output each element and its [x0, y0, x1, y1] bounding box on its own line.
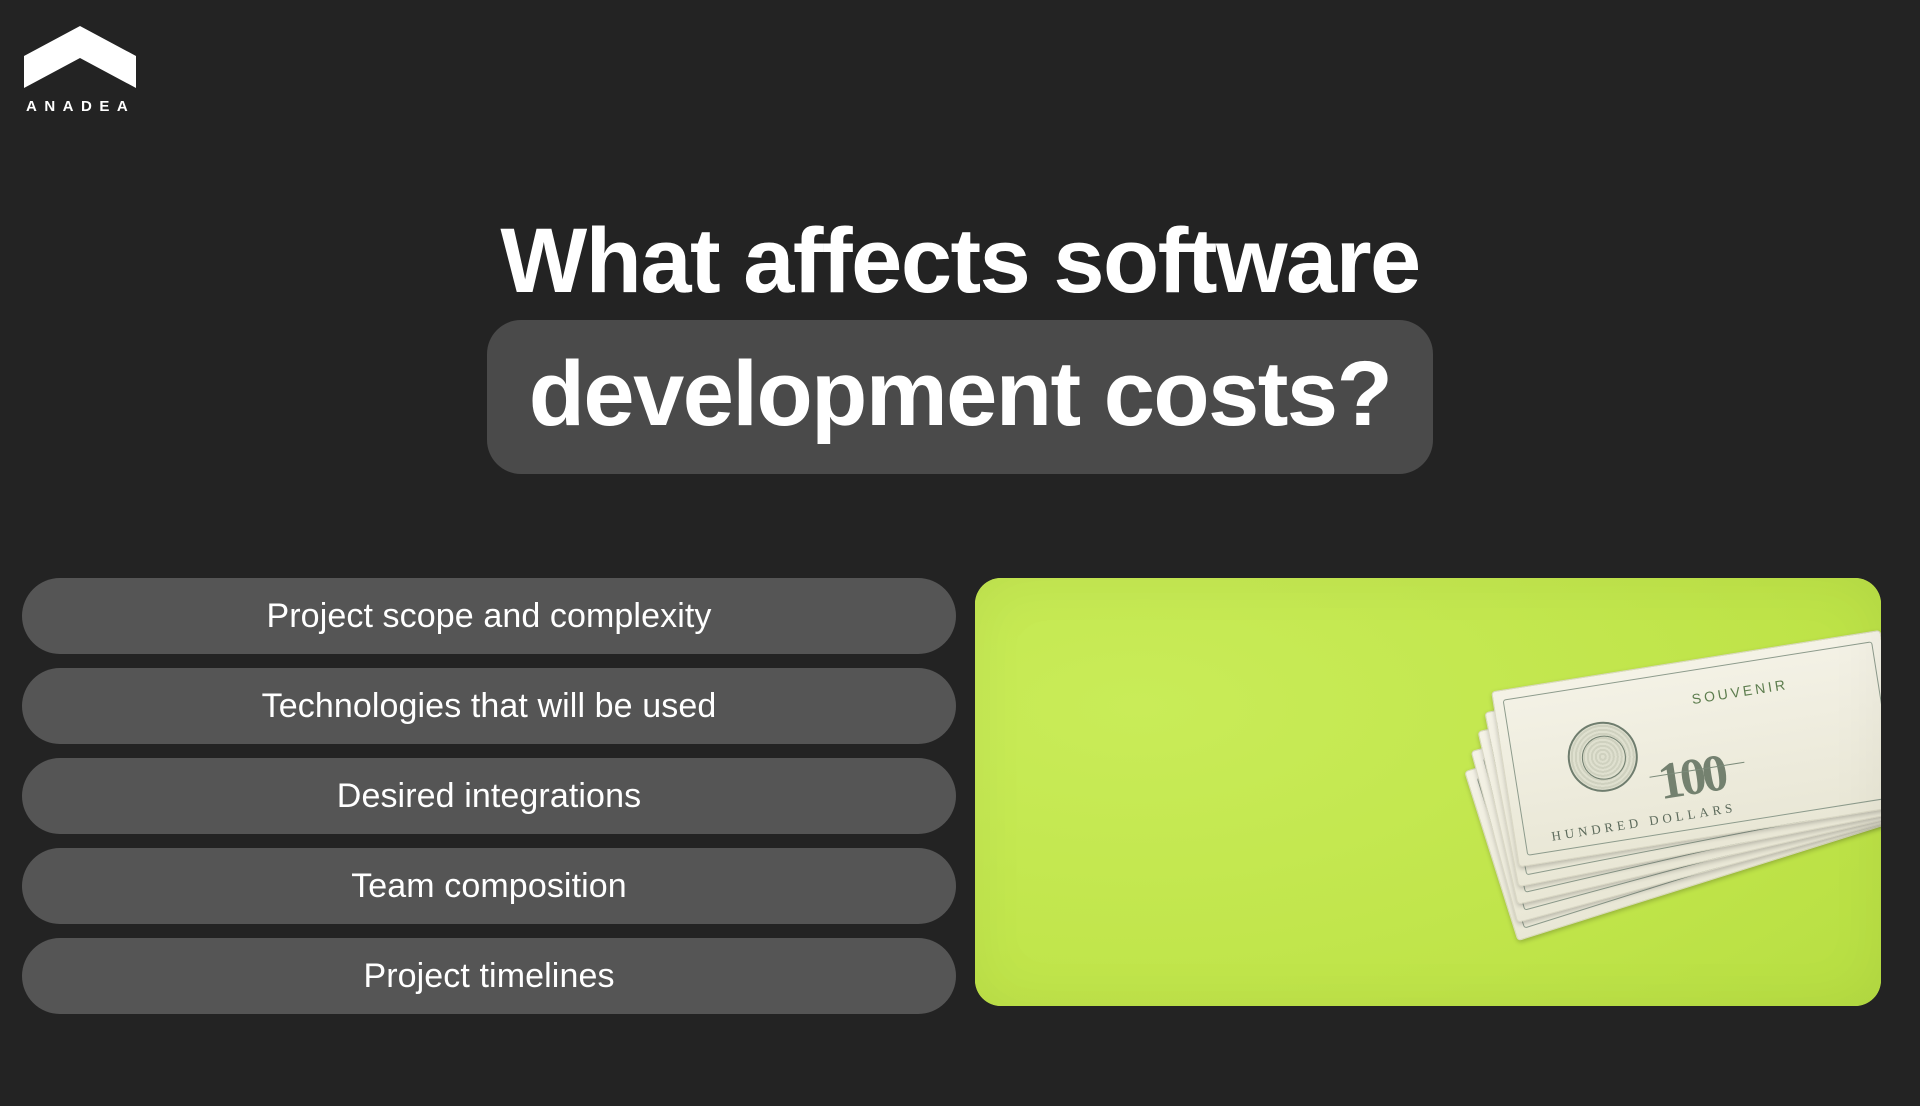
- title-line-1: What affects software: [0, 196, 1920, 326]
- list-item[interactable]: Project scope and complexity: [22, 578, 956, 654]
- page-title: What affects software development costs?: [0, 196, 1920, 474]
- chevron-roof-logo-icon: [24, 26, 136, 88]
- factors-list: Project scope and complexity Technologie…: [22, 578, 956, 1014]
- list-item[interactable]: Team composition: [22, 848, 956, 924]
- slide-canvas: ANADEA What affects software development…: [0, 0, 1920, 1106]
- brand-logo: ANADEA: [24, 26, 174, 115]
- title-line-2-wrapper: development costs?: [0, 320, 1920, 474]
- list-item[interactable]: Project timelines: [22, 938, 956, 1014]
- list-item[interactable]: Technologies that will be used: [22, 668, 956, 744]
- calculator-and-cash-photo: SOUVENIR 100 HUNDRED DOLLARS ON/C CE √ %…: [975, 578, 1881, 1006]
- list-item[interactable]: Desired integrations: [22, 758, 956, 834]
- title-line-2: development costs?: [487, 320, 1434, 474]
- brand-name: ANADEA: [26, 98, 174, 115]
